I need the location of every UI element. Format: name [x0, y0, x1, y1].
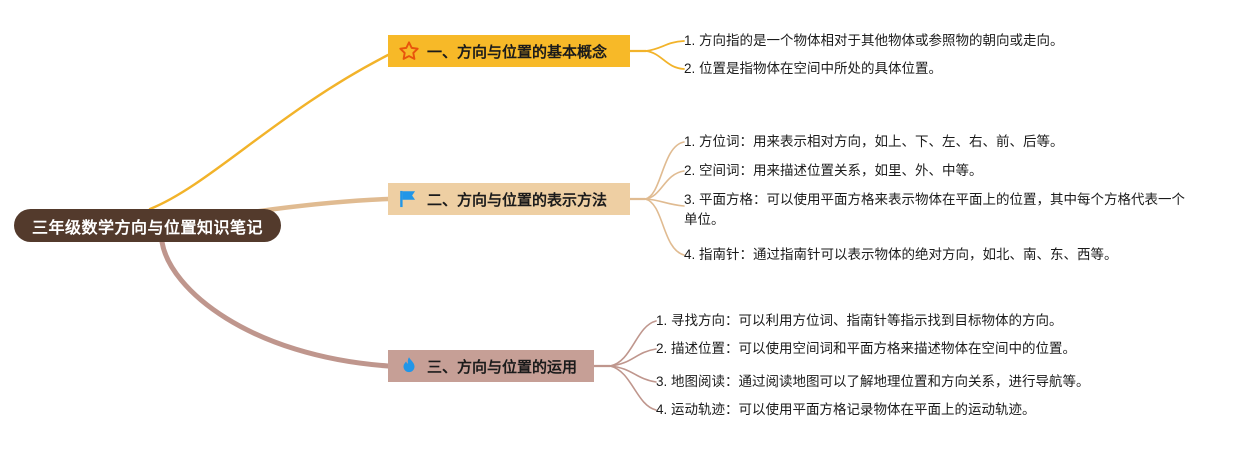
edge-branch-2-leaf-4 — [645, 199, 684, 255]
leaf-2-1: 1. 方位词：用来表示相对方向，如上、下、左、右、前、后等。 — [684, 132, 1064, 152]
edge-root-branch-3 — [162, 242, 388, 366]
flame-icon — [398, 355, 420, 377]
branch-label-3: 三、方向与位置的运用 — [427, 356, 577, 377]
edge-branch-2-leaf-3 — [645, 199, 684, 206]
branch-node-3[interactable]: 三、方向与位置的运用 — [388, 350, 594, 382]
branch-label-1: 一、方向与位置的基本概念 — [427, 41, 607, 62]
leaf-3-3: 3. 地图阅读：通过阅读地图可以了解地理位置和方向关系，进行导航等。 — [656, 372, 1090, 392]
leaf-3-4: 4. 运动轨迹：可以使用平面方格记录物体在平面上的运动轨迹。 — [656, 400, 1036, 420]
edge-branch-3-leaf-4 — [610, 366, 656, 410]
mindmap-canvas: 三年级数学方向与位置知识笔记 一、方向与位置的基本概念 1. 方向指的是一个物体… — [0, 0, 1253, 450]
edge-branch-3-leaf-3 — [610, 366, 656, 382]
star-icon — [398, 40, 420, 62]
leaf-2-3: 3. 平面方格：可以使用平面方格来表示物体在平面上的位置，其中每个方格代表一个单… — [684, 190, 1189, 230]
leaf-2-4: 4. 指南针：通过指南针可以表示物体的绝对方向，如北、南、东、西等。 — [684, 245, 1118, 265]
edge-branch-3-leaf-1 — [610, 321, 656, 366]
leaf-1-2: 2. 位置是指物体在空间中所处的具体位置。 — [684, 59, 942, 79]
edge-branch-2-leaf-1 — [645, 142, 684, 199]
edge-branch-2-leaf-2 — [645, 171, 684, 199]
root-label: 三年级数学方向与位置知识笔记 — [32, 214, 263, 238]
leaf-1-1: 1. 方向指的是一个物体相对于其他物体或参照物的朝向或走向。 — [684, 31, 1064, 51]
edge-branch-1-leaf-2 — [646, 51, 684, 69]
edge-root-branch-1 — [150, 55, 388, 209]
branch-node-1[interactable]: 一、方向与位置的基本概念 — [388, 35, 630, 67]
leaf-2-2: 2. 空间词：用来描述位置关系，如里、外、中等。 — [684, 161, 983, 181]
branch-label-2: 二、方向与位置的表示方法 — [427, 189, 607, 210]
edge-branch-3-leaf-2 — [610, 349, 656, 366]
leaf-3-1: 1. 寻找方向：可以利用方位词、指南针等指示找到目标物体的方向。 — [656, 311, 1063, 331]
branch-node-2[interactable]: 二、方向与位置的表示方法 — [388, 183, 630, 215]
flag-icon — [398, 188, 420, 210]
root-node[interactable]: 三年级数学方向与位置知识笔记 — [14, 209, 281, 242]
edge-branch-1-leaf-1 — [646, 41, 684, 51]
leaf-3-2: 2. 描述位置：可以使用空间词和平面方格来描述物体在空间中的位置。 — [656, 339, 1076, 359]
